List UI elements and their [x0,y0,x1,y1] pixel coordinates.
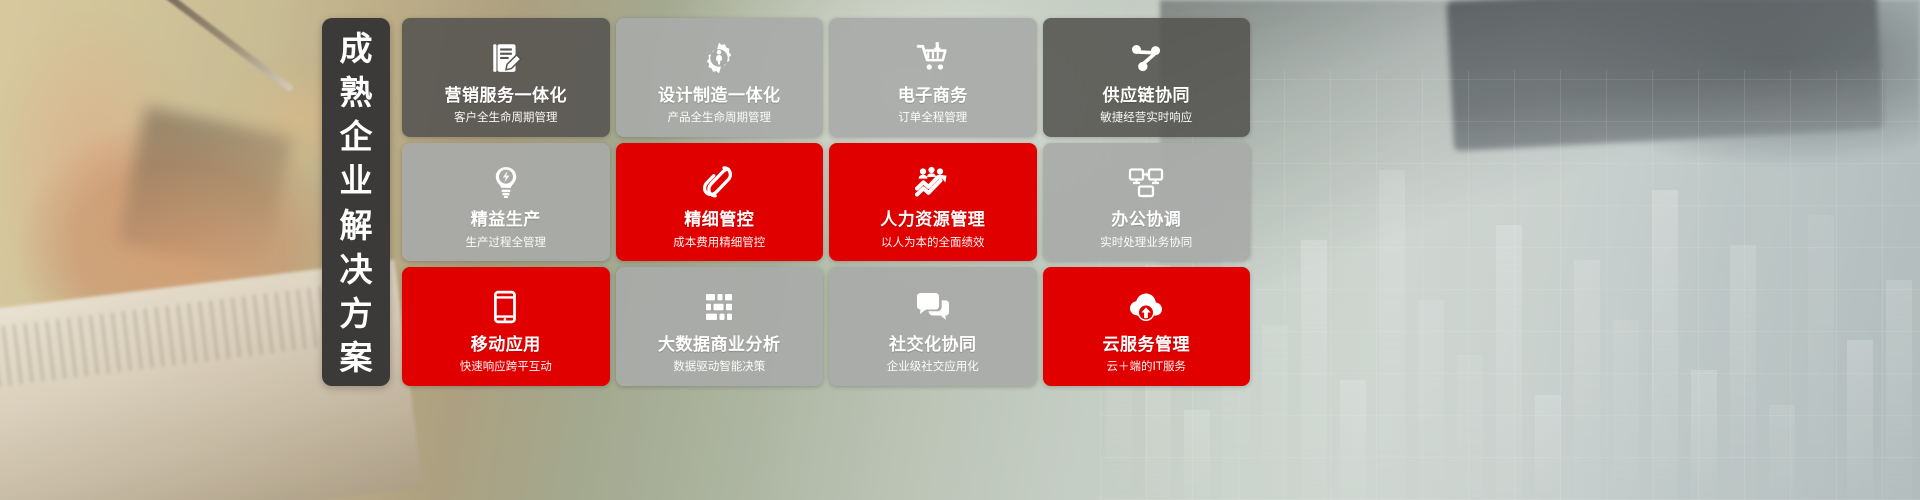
lightbulb-bolt-icon [486,162,526,202]
mobile-phone-icon [486,287,526,327]
headline-char-2: 企 [340,120,373,153]
headline-char-6: 方 [340,297,373,330]
headline-char-4: 解 [340,209,373,242]
solution-card-12[interactable]: 云服务管理云＋端的IT服务 [1043,267,1251,386]
chain-link-icon [699,162,739,202]
solution-card-4[interactable]: 供应链协同敏捷经营实时响应 [1043,18,1251,137]
solution-card-6[interactable]: 精细管控成本费用精细管控 [616,143,824,262]
solution-card-10[interactable]: 大数据商业分析数据驱动智能决策 [616,267,824,386]
card-title: 营销服务一体化 [445,87,568,107]
solution-card-11[interactable]: 社交化协同企业级社交应用化 [829,267,1037,386]
solution-card-9[interactable]: 移动应用快速响应跨平互动 [402,267,610,386]
card-subtitle: 数据驱动智能决策 [673,359,765,374]
shopping-cart-download-icon [913,38,953,78]
card-title: 人力资源管理 [880,211,985,231]
solution-card-grid: 营销服务一体化客户全生命周期管理设计制造一体化产品全生命周期管理电子商务订单全程… [402,18,1250,386]
card-title: 大数据商业分析 [658,336,781,356]
card-title: 设计制造一体化 [658,87,781,107]
network-nodes-icon [1126,38,1166,78]
card-subtitle: 快速响应跨平互动 [460,359,552,374]
headline-char-5: 决 [340,253,373,286]
card-title: 电子商务 [898,87,968,107]
card-title: 云服务管理 [1103,336,1191,356]
card-subtitle: 客户全生命周期管理 [454,110,558,125]
solution-card-2[interactable]: 设计制造一体化产品全生命周期管理 [616,18,824,137]
solution-card-8[interactable]: 办公协调实时处理业务协同 [1043,143,1251,262]
screens-sync-icon [1126,162,1166,202]
solution-card-5[interactable]: 精益生产生产过程全管理 [402,143,610,262]
card-subtitle: 实时处理业务协同 [1100,235,1192,250]
card-title: 供应链协同 [1103,87,1191,107]
chat-bubbles-icon [913,287,953,327]
card-subtitle: 以人为本的全面绩效 [881,235,985,250]
card-subtitle: 生产过程全管理 [466,235,547,250]
card-title: 精益生产 [471,211,541,231]
headline-panel-wrapper: 成熟企业解决方案 [322,18,390,386]
card-subtitle: 敏捷经营实时响应 [1100,110,1192,125]
card-title: 社交化协同 [889,336,977,356]
data-blocks-icon [699,287,739,327]
gear-person-icon [699,38,739,78]
card-title: 办公协调 [1111,211,1181,231]
card-subtitle: 产品全生命周期管理 [668,110,772,125]
card-subtitle: 成本费用精细管控 [673,235,765,250]
cloud-upload-icon [1126,287,1166,327]
card-subtitle: 订单全程管理 [898,110,967,125]
vertical-headline-panel: 成熟企业解决方案 [322,18,390,386]
card-title: 移动应用 [471,336,541,356]
card-subtitle: 企业级社交应用化 [887,359,979,374]
card-subtitle: 云＋端的IT服务 [1107,359,1186,374]
headline-char-0: 成 [340,32,373,65]
headline-char-1: 熟 [340,76,373,109]
notebook-pencil-icon [486,38,526,78]
headline-char-3: 业 [340,164,373,197]
headline-char-7: 案 [340,341,373,374]
card-title: 精细管控 [684,211,754,231]
solution-card-7[interactable]: 人力资源管理以人为本的全面绩效 [829,143,1037,262]
solution-card-3[interactable]: 电子商务订单全程管理 [829,18,1037,137]
solution-card-1[interactable]: 营销服务一体化客户全生命周期管理 [402,18,610,137]
people-growth-chart-icon [913,162,953,202]
